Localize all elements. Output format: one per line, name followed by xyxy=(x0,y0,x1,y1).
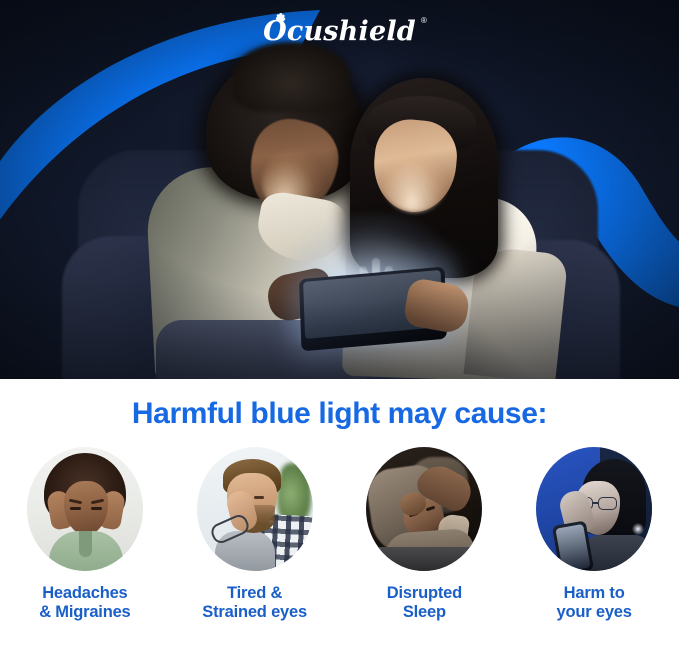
sun-rays-icon xyxy=(266,9,296,22)
eye-right xyxy=(91,507,102,510)
symptom-label: Disrupted Sleep xyxy=(387,584,462,622)
symptom-card-tired-eyes: Tired & Strained eyes xyxy=(170,447,340,657)
disrupted-sleep-photo xyxy=(366,447,482,571)
phone-screen xyxy=(556,524,591,571)
harm-to-eyes-photo xyxy=(536,447,652,571)
neckline xyxy=(79,531,92,557)
hero-vignette xyxy=(0,0,679,379)
symptom-card-harm-to-eyes: Harm to your eyes xyxy=(509,447,679,657)
brand-logo[interactable]: Ocushield ® xyxy=(0,18,679,45)
eye-left xyxy=(70,507,81,510)
bed-sheet xyxy=(366,547,482,571)
benefits-panel: Harmful blue light may cause: Headaches … xyxy=(0,379,679,661)
symptom-label: Headaches & Migraines xyxy=(39,584,130,622)
advertisement-banner: Ocushield ® Harmful blue light may cause… xyxy=(0,0,679,661)
symptom-label: Harm to your eyes xyxy=(557,584,632,622)
eye-right xyxy=(254,496,264,499)
registered-trademark-icon: ® xyxy=(421,16,427,25)
hero-image: Ocushield ® xyxy=(0,0,679,379)
tired-eyes-photo xyxy=(197,447,313,571)
symptom-label: Tired & Strained eyes xyxy=(202,584,307,622)
headache-photo xyxy=(27,447,143,571)
symptom-card-list: Headaches & Migraines Tired & Strained xyxy=(0,447,679,657)
page-title: Harmful blue light may cause: xyxy=(0,397,679,431)
symptom-card-headaches: Headaches & Migraines xyxy=(0,447,170,657)
symptom-card-disrupted-sleep: Disrupted Sleep xyxy=(340,447,510,657)
lens-right xyxy=(598,497,617,510)
